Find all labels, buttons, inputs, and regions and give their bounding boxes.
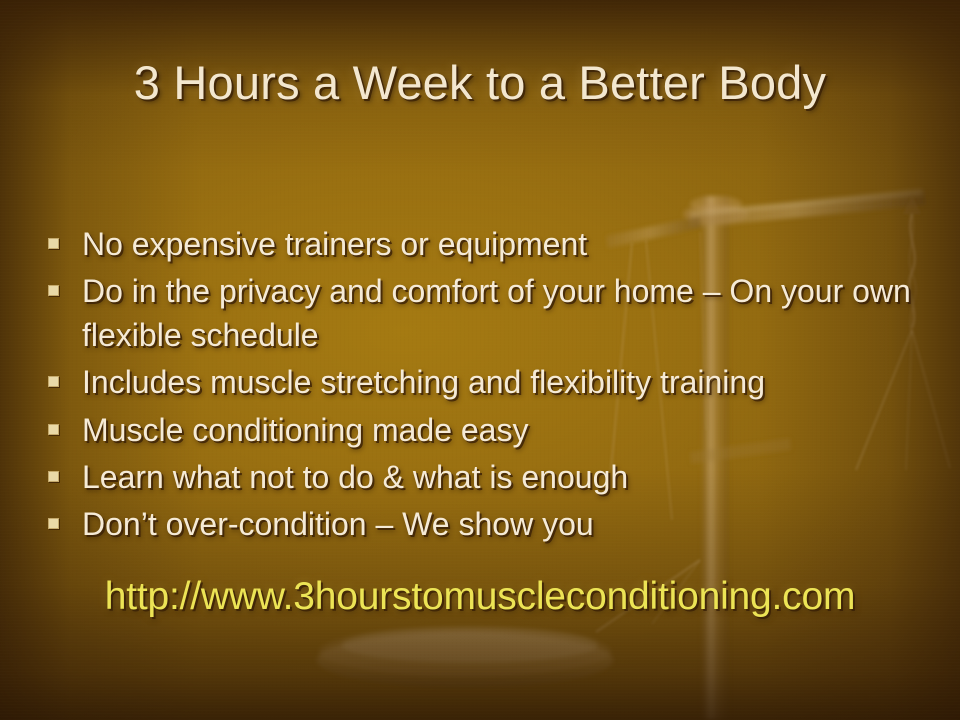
slide-title: 3 Hours a Week to a Better Body bbox=[0, 58, 960, 108]
bullet-item: Do in the privacy and comfort of your ho… bbox=[44, 269, 924, 357]
bullet-text: Muscle conditioning made easy bbox=[82, 412, 528, 448]
bullet-square-icon bbox=[48, 376, 59, 387]
bullet-item: Don’t over-condition – We show you bbox=[44, 502, 924, 546]
bullet-square-icon bbox=[48, 471, 59, 482]
bullet-list: No expensive trainers or equipment Do in… bbox=[44, 222, 924, 549]
bullet-text: Learn what not to do & what is enough bbox=[82, 459, 628, 495]
bullet-item: Includes muscle stretching and flexibili… bbox=[44, 360, 924, 404]
bullet-text: Don’t over-condition – We show you bbox=[82, 506, 594, 542]
bullet-text: No expensive trainers or equipment bbox=[82, 226, 587, 262]
bullet-text: Do in the privacy and comfort of your ho… bbox=[82, 273, 911, 353]
slide-content: 3 Hours a Week to a Better Body No expen… bbox=[0, 0, 960, 720]
bullet-text: Includes muscle stretching and flexibili… bbox=[82, 364, 765, 400]
bullet-item: No expensive trainers or equipment bbox=[44, 222, 924, 266]
bullet-square-icon bbox=[48, 518, 59, 529]
bullet-item: Learn what not to do & what is enough bbox=[44, 455, 924, 499]
bullet-item: Muscle conditioning made easy bbox=[44, 408, 924, 452]
website-url[interactable]: http://www.3hourstomuscleconditioning.co… bbox=[0, 576, 960, 619]
bullet-square-icon bbox=[48, 285, 59, 296]
bullet-square-icon bbox=[48, 424, 59, 435]
bullet-square-icon bbox=[48, 238, 59, 249]
presentation-slide: 3 Hours a Week to a Better Body No expen… bbox=[0, 0, 960, 720]
